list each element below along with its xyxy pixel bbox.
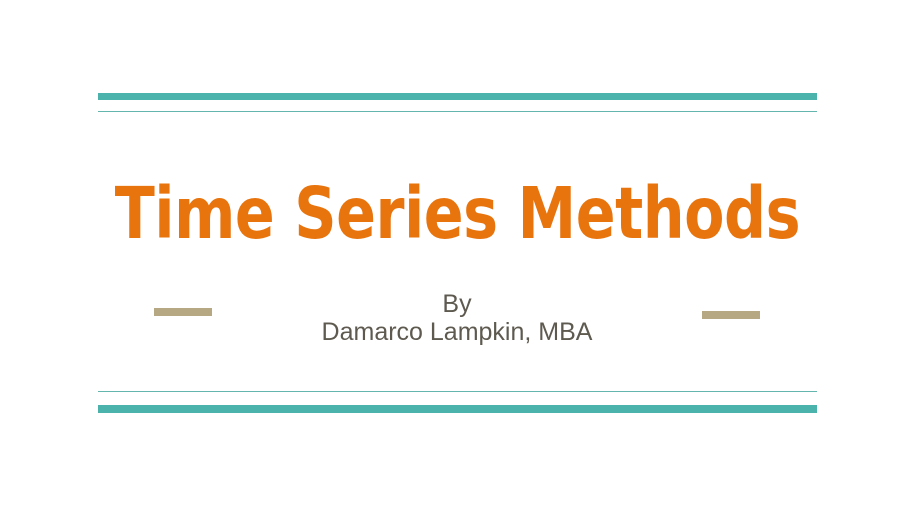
title-block: Time Series Methods <box>0 178 914 249</box>
bottom-thick-rule <box>98 405 817 413</box>
presentation-title-slide: Time Series Methods By Damarco Lampkin, … <box>0 0 914 511</box>
bottom-thin-rule <box>98 391 817 392</box>
top-thick-rule <box>98 93 817 100</box>
page-title: Time Series Methods <box>114 178 799 249</box>
subtitle-line-author: Damarco Lampkin, MBA <box>0 318 914 346</box>
subtitle-block: By Damarco Lampkin, MBA <box>0 290 914 346</box>
subtitle-line-byline: By <box>0 290 914 318</box>
top-thin-rule <box>98 111 817 112</box>
